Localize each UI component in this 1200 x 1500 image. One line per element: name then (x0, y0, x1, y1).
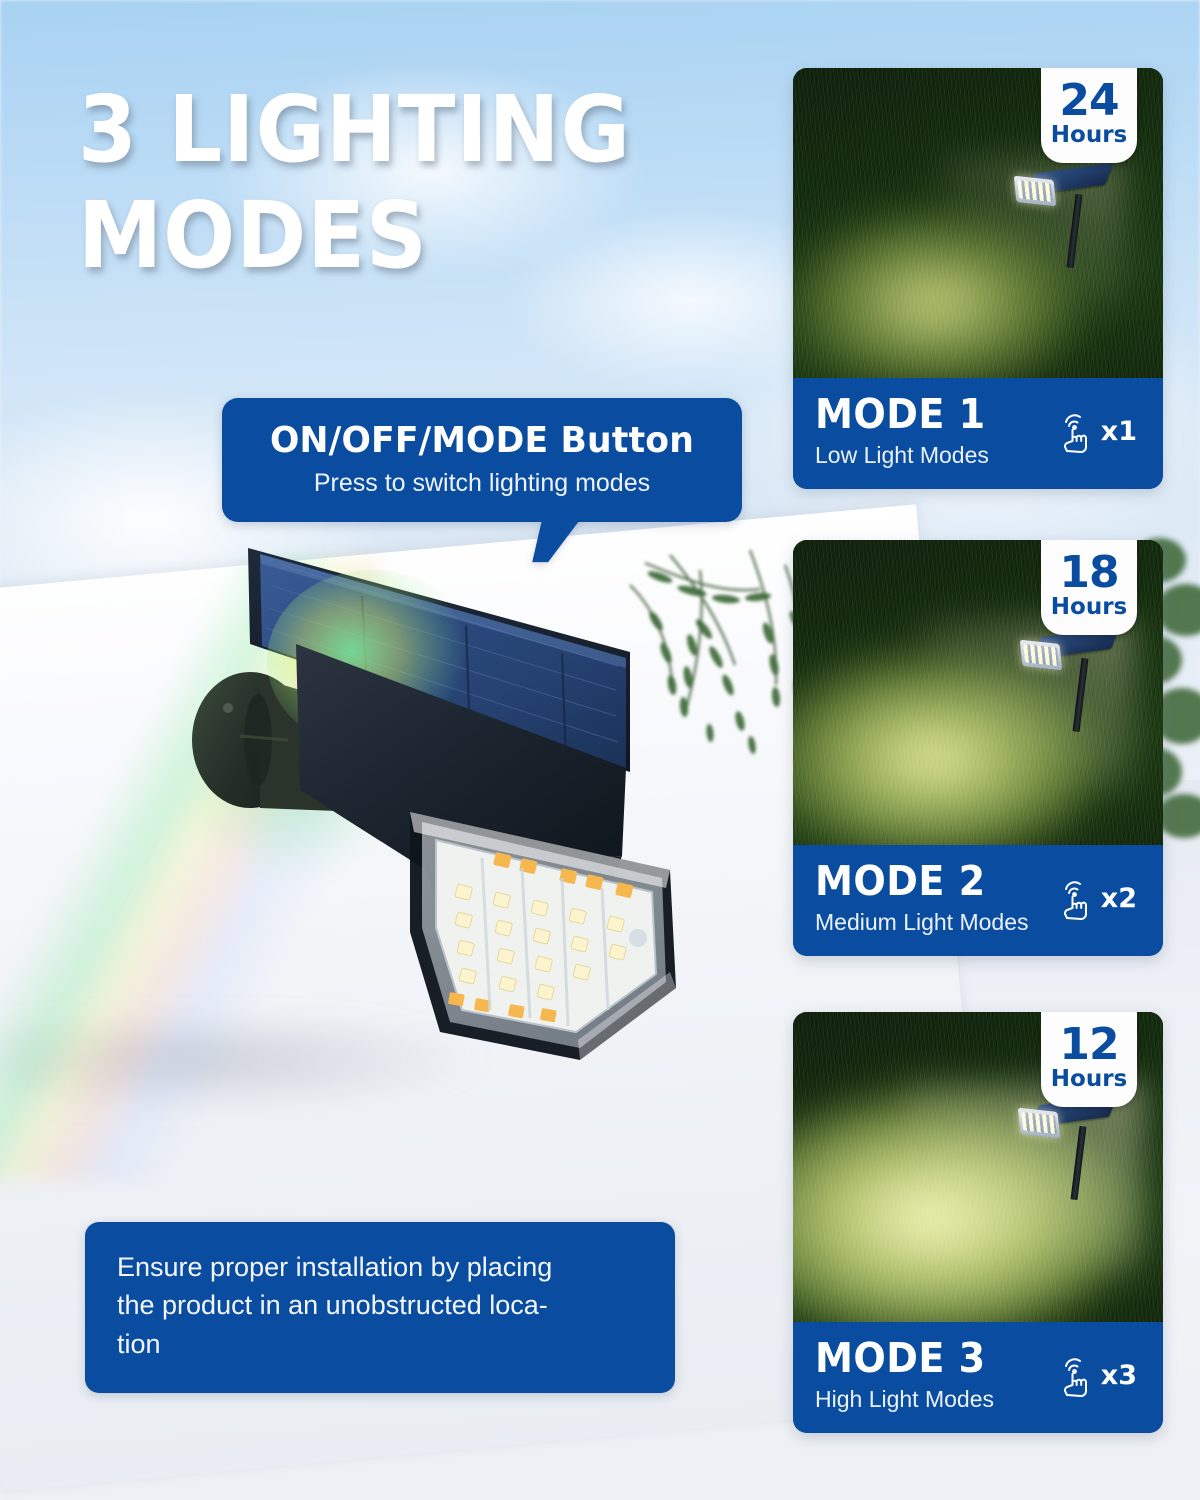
mode-title-3: MODE 3 (815, 1338, 1037, 1379)
fixture-ground-stake (1067, 194, 1083, 268)
fixture-led-head (1020, 640, 1062, 671)
tap-instruction-2: x2 (1054, 877, 1141, 921)
fixture-ground-stake (1073, 658, 1089, 732)
mode-card-2-label: MODE 2 Medium Light Modes x2 (793, 845, 1163, 956)
mode-title-2: MODE 2 (815, 861, 1037, 902)
mode-card-3-label: MODE 3 High Light Modes x3 (793, 1322, 1163, 1433)
onoff-mode-callout: ON/OFF/MODE Button Press to switch light… (222, 398, 742, 522)
tap-count-2: x2 (1101, 883, 1137, 914)
mode-card-3[interactable]: 12 Hours MODE 3 High Light Modes (793, 1012, 1163, 1433)
mode-card-1-label: MODE 1 Low Light Modes x1 (793, 378, 1163, 489)
hours-unit-3: Hours (1041, 1065, 1137, 1094)
callout-subtitle: Press to switch lighting modes (248, 469, 716, 498)
mode-card-1[interactable]: 24 Hours MODE 1 Low Light Modes (793, 68, 1163, 489)
tap-count-3: x3 (1101, 1360, 1137, 1391)
tap-hand-icon (1054, 410, 1096, 454)
solar-wall-light-product-image (110, 540, 770, 1060)
hours-value-2: 18 (1041, 553, 1137, 593)
mode-card-2-photo: 18 Hours (793, 540, 1163, 845)
fixture-led-head (1018, 1108, 1060, 1139)
title-line-2: MODES (78, 190, 704, 282)
mode-card-3-photo: 12 Hours (793, 1012, 1163, 1322)
installation-note: Ensure proper installation by placing th… (85, 1222, 675, 1393)
hours-badge-3: 12 Hours (1041, 1012, 1137, 1107)
mode-card-2[interactable]: 18 Hours MODE 2 Medium Light Modes (793, 540, 1163, 956)
spotlight-fixture (1015, 168, 1125, 278)
hours-value-3: 12 (1041, 1025, 1137, 1065)
fixture-led-head (1014, 176, 1056, 207)
tap-instruction-3: x3 (1054, 1354, 1141, 1398)
spotlight-fixture (1019, 1100, 1129, 1210)
mode-subtitle-3: High Light Modes (815, 1386, 1054, 1413)
hours-badge-1: 24 Hours (1041, 68, 1137, 163)
spotlight-fixture (1021, 632, 1131, 742)
tap-hand-icon (1054, 877, 1096, 921)
hours-value-1: 24 (1041, 81, 1137, 121)
fixture-ground-stake (1071, 1126, 1087, 1200)
mode-subtitle-2: Medium Light Modes (815, 909, 1054, 936)
mode-subtitle-1: Low Light Modes (815, 442, 1054, 469)
mode-title-1: MODE 1 (815, 394, 1037, 435)
installation-note-text: Ensure proper installation by placing th… (117, 1248, 643, 1363)
tap-count-1: x1 (1101, 416, 1137, 447)
tap-hand-icon (1054, 1354, 1096, 1398)
tap-instruction-1: x1 (1054, 410, 1141, 454)
mode-card-1-photo: 24 Hours (793, 68, 1163, 378)
title-line-1: 3 LIGHTING (78, 76, 631, 183)
callout-title: ON/OFF/MODE Button (257, 420, 706, 461)
product-infographic: 3 LIGHTING MODES ON/OFF/MODE Button Pres… (0, 0, 1200, 1500)
hours-unit-2: Hours (1041, 593, 1137, 622)
hours-unit-1: Hours (1041, 121, 1137, 150)
hours-badge-2: 18 Hours (1041, 540, 1137, 635)
page-title: 3 LIGHTING MODES (78, 84, 704, 282)
